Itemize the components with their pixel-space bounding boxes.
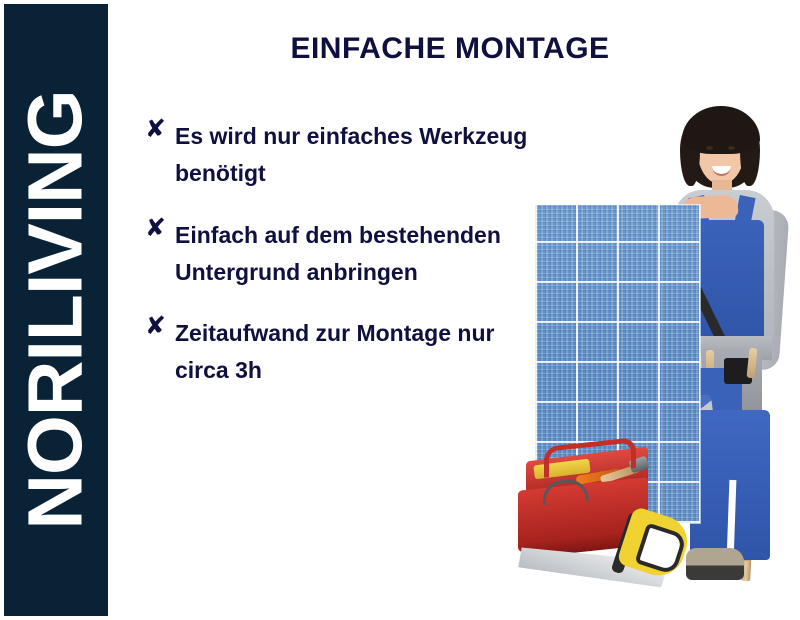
eye-left: [706, 146, 713, 150]
page-title: EINFACHE MONTAGE: [120, 32, 780, 66]
eye-right: [728, 146, 735, 150]
slide-canvas: NORILIVING EINFACHE MONTAGE ✘ Es wird nu…: [0, 0, 800, 620]
handsaw: [520, 508, 700, 618]
list-item: ✘ Es wird nur einfaches Werkzeug benötig…: [145, 118, 545, 193]
list-item: ✘ Einfach auf dem bestehenden Untergrund…: [145, 217, 545, 292]
brand-sidebar: NORILIVING: [4, 4, 108, 616]
feature-list: ✘ Es wird nur einfaches Werkzeug benötig…: [145, 118, 545, 414]
x-mark-bullet-icon: ✘: [145, 116, 166, 141]
brand-name: NORILIVING: [18, 90, 95, 529]
x-mark-bullet-icon: ✘: [145, 215, 166, 240]
x-mark-bullet-icon: ✘: [145, 313, 166, 338]
product-photo: [500, 100, 800, 620]
list-item-label: Einfach auf dem bestehenden Untergrund a…: [175, 217, 545, 292]
list-item: ✘ Zeitaufwand zur Montage nur circa 3h: [145, 315, 545, 390]
list-item-label: Zeitaufwand zur Montage nur circa 3h: [175, 315, 545, 390]
hair-front: [682, 106, 760, 154]
list-item-label: Es wird nur einfaches Werkzeug benötigt: [175, 118, 545, 193]
